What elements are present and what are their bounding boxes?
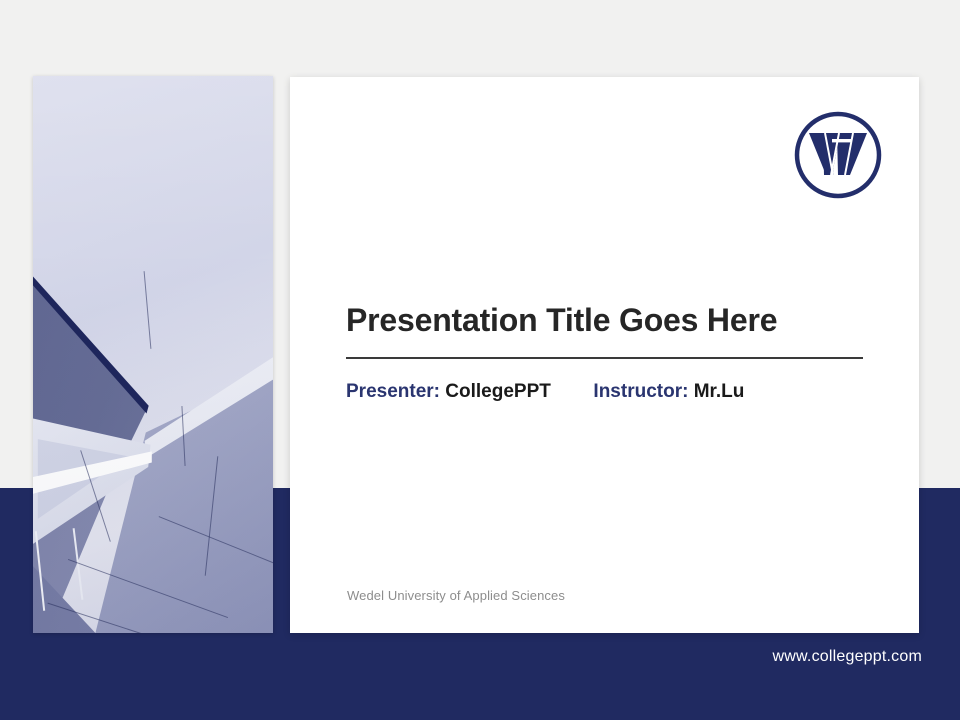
title-block: Presentation Title Goes Here Presenter: …: [346, 302, 863, 403]
organization-footer: Wedel University of Applied Sciences: [347, 588, 565, 603]
title-divider: [346, 357, 863, 359]
byline: Presenter: CollegePPT Instructor: Mr.Lu: [346, 381, 863, 403]
architecture-photo-panel: [33, 76, 273, 633]
slide-content-card: Presentation Title Goes Here Presenter: …: [290, 77, 919, 633]
presenter-value: CollegePPT: [445, 381, 551, 402]
site-url: www.collegeppt.com: [773, 648, 922, 666]
instructor-label: Instructor:: [593, 381, 688, 402]
presentation-slide: Presentation Title Goes Here Presenter: …: [0, 0, 960, 720]
photo-vignette-overlay: [33, 76, 273, 633]
presenter-label: Presenter:: [346, 381, 440, 402]
university-logo: [792, 109, 884, 201]
architecture-photo-image: [33, 76, 273, 633]
page-title: Presentation Title Goes Here: [346, 302, 863, 339]
instructor-value: Mr.Lu: [694, 381, 745, 402]
